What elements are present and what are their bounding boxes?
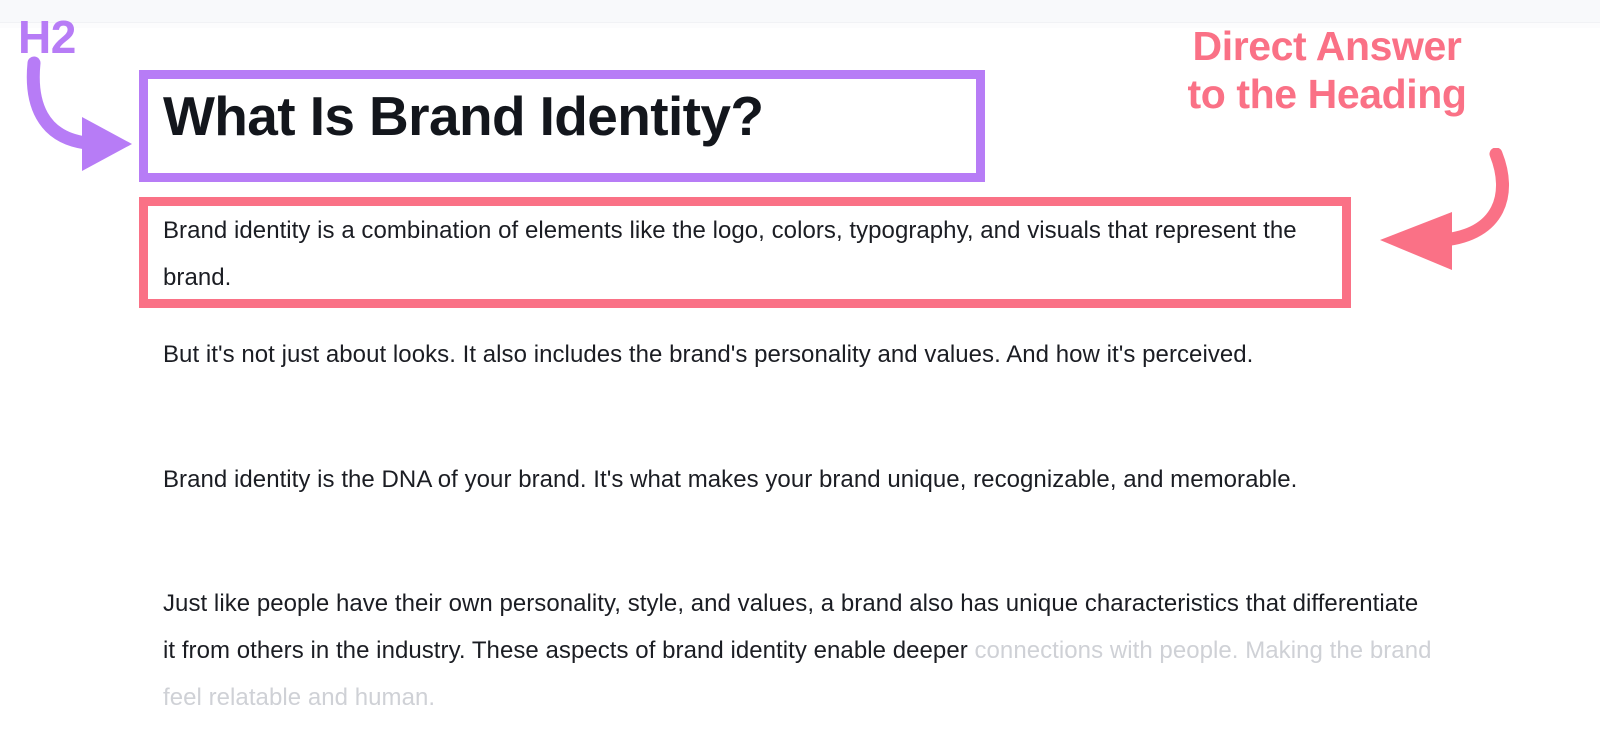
- page-top-edge-band: [0, 0, 1600, 23]
- paragraph-3: Brand identity is the DNA of your brand.…: [163, 456, 1363, 503]
- paragraph-4: Just like people have their own personal…: [163, 580, 1433, 721]
- annotation-label-direct-answer-line1: Direct Answer: [1193, 23, 1462, 69]
- paragraph-2: But it's not just about looks. It also i…: [163, 331, 1323, 378]
- curved-arrow-left-icon: [1340, 148, 1600, 290]
- page-heading-what-is-brand-identity: What Is Brand Identity?: [163, 83, 763, 149]
- annotation-label-direct-answer-line2: to the Heading: [1112, 70, 1542, 118]
- screenshot-root: What Is Brand Identity? Brand identity i…: [0, 0, 1600, 733]
- annotation-label-h2: H2: [18, 14, 76, 60]
- curved-arrow-right-icon: [20, 55, 150, 185]
- paragraph-direct-answer: Brand identity is a combination of eleme…: [163, 207, 1343, 301]
- annotation-label-direct-answer: Direct Answer to the Heading: [1112, 22, 1542, 118]
